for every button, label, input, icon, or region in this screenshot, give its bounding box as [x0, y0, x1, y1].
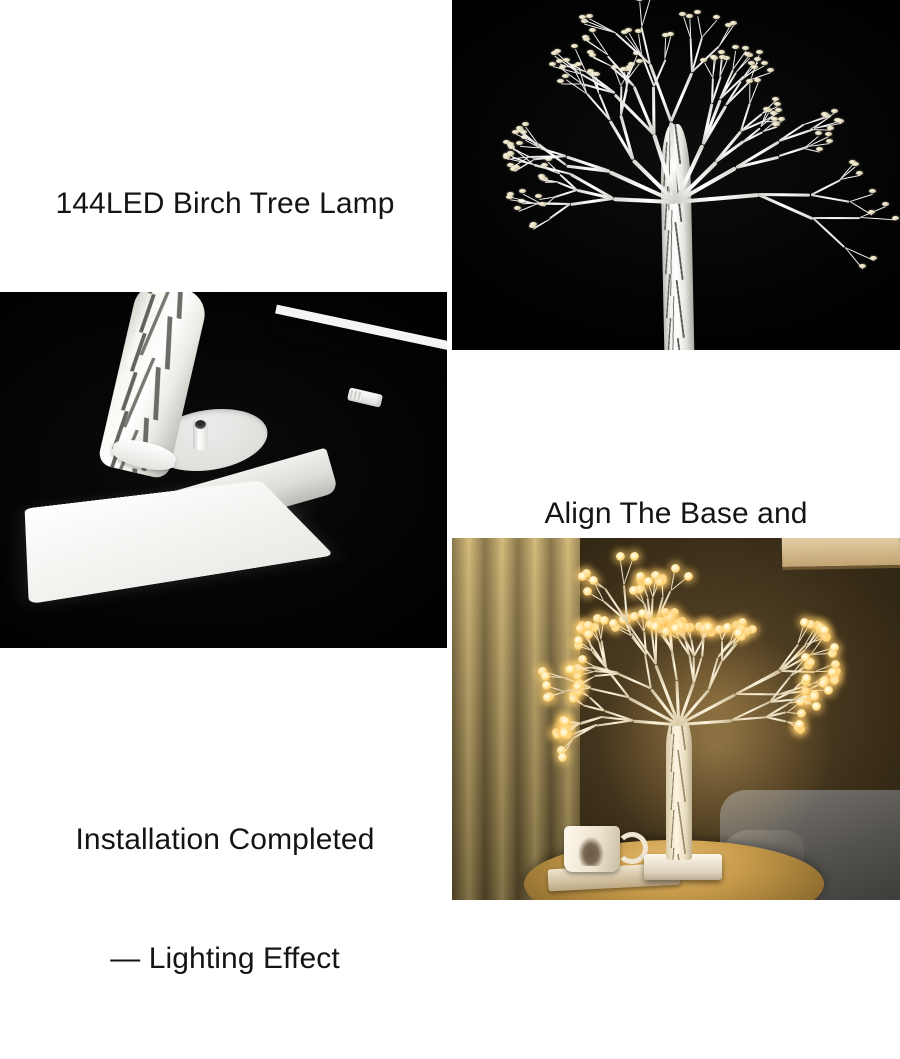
led-bud — [868, 210, 875, 214]
led-bud — [713, 15, 720, 19]
led-bud — [837, 119, 844, 123]
branch — [690, 39, 693, 73]
led-bud — [816, 147, 823, 151]
led-bud — [718, 50, 725, 54]
led-bud — [589, 53, 596, 57]
led-bud — [539, 176, 546, 180]
room-scene — [452, 538, 900, 900]
led-bulb — [824, 686, 833, 695]
led-bud — [746, 79, 753, 83]
branch — [810, 179, 840, 196]
photo-lit-tree-in-room — [452, 538, 900, 900]
led-bulb — [671, 564, 680, 573]
led-bud — [825, 132, 832, 136]
branch — [585, 71, 615, 94]
picture-frame — [782, 538, 900, 570]
branch — [697, 15, 703, 37]
branch — [812, 218, 845, 249]
led-bud — [563, 58, 570, 62]
photo-unlit-birch-tree — [452, 0, 900, 350]
led-bud — [549, 62, 556, 66]
led-bud — [761, 61, 768, 65]
caption-align-line1: Align The Base and — [452, 494, 900, 534]
led-bud — [507, 192, 514, 196]
led-bud — [856, 171, 863, 175]
led-bud — [778, 117, 785, 121]
led-bud — [541, 163, 548, 167]
branch — [718, 25, 734, 47]
branch — [641, 0, 650, 27]
led-bud — [826, 139, 833, 143]
branch — [592, 33, 608, 56]
photo-lamp-base-assembly: 1. STEADY ON 2. TIMER 3. OFF — [0, 292, 447, 648]
led-bud — [774, 102, 781, 106]
caption-done-line2: — Lighting Effect — [0, 939, 450, 979]
led-bulb — [830, 676, 839, 685]
led-bulb — [543, 693, 552, 702]
led-bud — [763, 107, 770, 111]
led-bulb — [684, 572, 693, 581]
led-bud — [516, 126, 523, 130]
branch — [779, 148, 805, 158]
cable-plug-icon — [347, 387, 383, 407]
led-bulb — [542, 681, 551, 690]
led-bulb — [828, 668, 837, 677]
power-cable — [270, 305, 447, 377]
led-bud — [571, 44, 578, 48]
branch — [811, 194, 850, 203]
led-bud — [700, 58, 707, 62]
led-bud — [522, 122, 529, 126]
led-bulb — [644, 577, 653, 586]
led-bud — [827, 126, 834, 130]
branch — [549, 203, 571, 219]
birch-trunk — [660, 124, 695, 350]
led-bud — [767, 68, 774, 72]
dark-studio-backdrop-base: 1. STEADY ON 2. TIMER 3. OFF — [0, 292, 447, 648]
led-bulb — [795, 720, 804, 729]
led-bulb — [812, 702, 821, 711]
infographic-sheet: 144LED Birch Tree Lamp — DIY Tree Branch… — [0, 0, 900, 900]
base-center-pin — [193, 420, 208, 450]
led-bud — [512, 130, 519, 134]
led-bud — [831, 109, 838, 113]
led-bulb — [630, 552, 639, 561]
led-bud — [556, 59, 563, 63]
led-bulb — [541, 672, 550, 681]
dark-studio-backdrop — [452, 0, 900, 350]
led-bulb — [558, 753, 567, 762]
branch — [561, 83, 582, 84]
led-bulb — [566, 665, 575, 674]
led-bud — [586, 14, 593, 18]
branch — [586, 93, 611, 121]
led-bud — [579, 15, 586, 19]
led-bulb — [561, 717, 570, 726]
led-bud — [694, 10, 701, 14]
led-bud — [859, 264, 866, 268]
led-bulb — [600, 616, 609, 625]
branch — [670, 72, 693, 122]
led-bulb — [584, 630, 593, 639]
led-bulb — [616, 552, 625, 561]
led-bud — [732, 45, 739, 49]
led-bulb — [830, 643, 839, 652]
led-bud — [742, 46, 749, 50]
led-bulb — [802, 674, 811, 683]
led-bud — [589, 28, 596, 32]
led-bud — [636, 0, 643, 1]
led-bulb — [797, 709, 806, 718]
branch — [813, 217, 860, 219]
led-bud — [772, 97, 779, 101]
branch — [758, 193, 814, 220]
branch — [702, 19, 718, 37]
branch — [860, 217, 896, 221]
caption-title-line1: 144LED Birch Tree Lamp — [0, 184, 450, 224]
led-bulb — [609, 619, 618, 628]
led-bulb — [810, 692, 819, 701]
led-bud — [870, 256, 877, 260]
branch — [652, 86, 655, 134]
led-bud — [667, 32, 674, 36]
caption-done-line1: Installation Completed — [0, 820, 450, 860]
branch — [749, 82, 759, 104]
branch — [849, 193, 872, 202]
lit-birch-trunk — [666, 720, 692, 860]
led-bud — [754, 78, 761, 82]
led-bud — [503, 155, 510, 159]
led-bud — [711, 56, 718, 60]
deer-print-icon — [576, 834, 606, 866]
led-bud — [551, 51, 558, 55]
led-bud — [625, 28, 632, 32]
led-bud — [539, 202, 546, 206]
led-bud — [882, 202, 889, 206]
led-bud — [869, 189, 876, 193]
led-bud — [519, 189, 526, 193]
led-bulb — [651, 622, 660, 631]
branch — [711, 78, 714, 103]
led-bud — [730, 21, 737, 25]
led-bud — [582, 35, 589, 39]
led-bud — [516, 141, 523, 145]
led-bud — [892, 216, 899, 220]
led-bud — [822, 113, 829, 117]
led-bud — [815, 131, 822, 135]
led-bud — [686, 14, 693, 18]
led-bud — [849, 160, 856, 164]
led-bud — [756, 50, 763, 54]
